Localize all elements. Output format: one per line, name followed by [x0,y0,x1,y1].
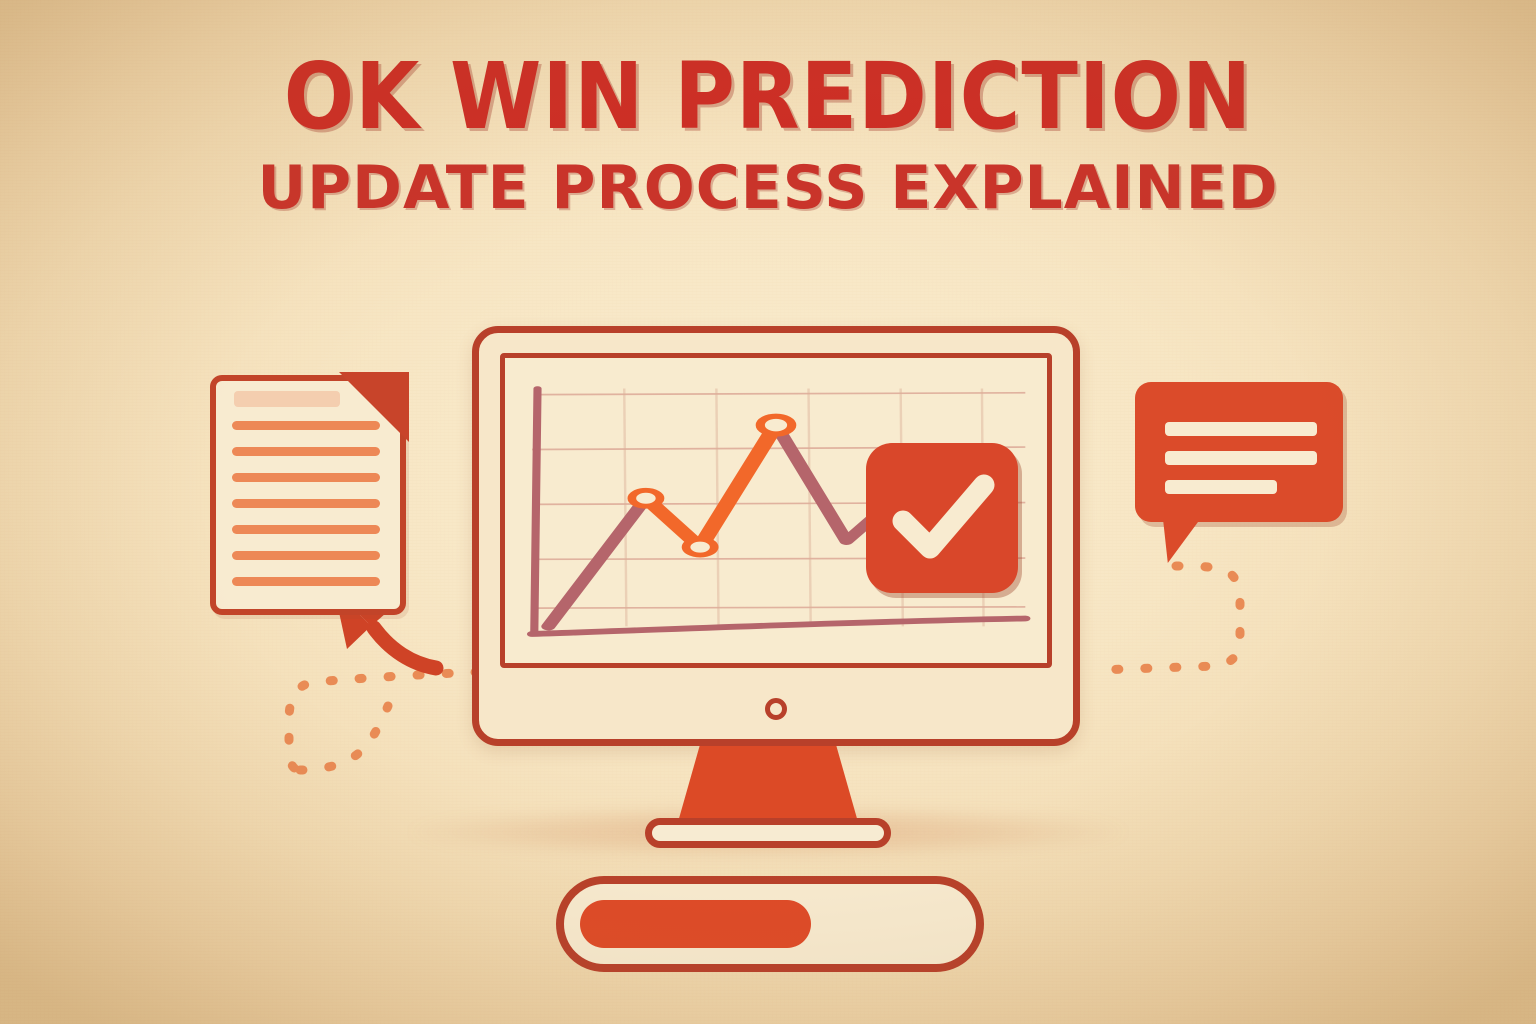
monitor-camera-dot-icon [765,698,787,720]
document-line [232,551,380,560]
chart-x-axis [532,618,1025,634]
document-line [232,577,380,586]
bubble-line [1165,422,1317,436]
document-heading-line [234,391,340,407]
page-title: OK WIN PREDICTION [0,52,1536,142]
right-dashed-path [1096,566,1240,670]
document-line [232,447,380,456]
chart-marker [686,539,714,555]
bubble-line [1165,480,1277,494]
document-text-lines [232,421,380,603]
update-progress-fill [580,900,811,948]
chart-marker [632,490,660,506]
update-progress-bar[interactable] [556,876,984,972]
monitor-stand-base [645,818,891,848]
chart-marker [760,416,791,434]
speech-bubble-tail-icon [1163,519,1223,563]
document-line [232,499,380,508]
document-line [232,421,380,430]
check-icon [866,443,1018,593]
heading-block: OK WIN PREDICTION UPDATE PROCESS EXPLAIN… [0,52,1536,218]
page-subtitle: UPDATE PROCESS EXPLAINED [0,158,1536,218]
left-arrow-stroke [374,628,436,668]
speech-bubble-text-lines [1165,422,1317,509]
chart-y-axis [534,389,537,635]
document-icon[interactable] [210,375,406,615]
left-dashed-path [289,672,478,770]
bubble-line [1165,451,1317,465]
illustration-canvas: OK WIN PREDICTION UPDATE PROCESS EXPLAIN… [0,0,1536,1024]
left-dashed-path-2 [300,706,388,770]
chart-series-updated-segment [646,425,776,547]
document-line [232,473,380,482]
monitor-stand [678,746,858,822]
verified-check-badge[interactable] [866,443,1018,593]
speech-bubble[interactable] [1135,382,1343,522]
document-line [232,525,380,534]
